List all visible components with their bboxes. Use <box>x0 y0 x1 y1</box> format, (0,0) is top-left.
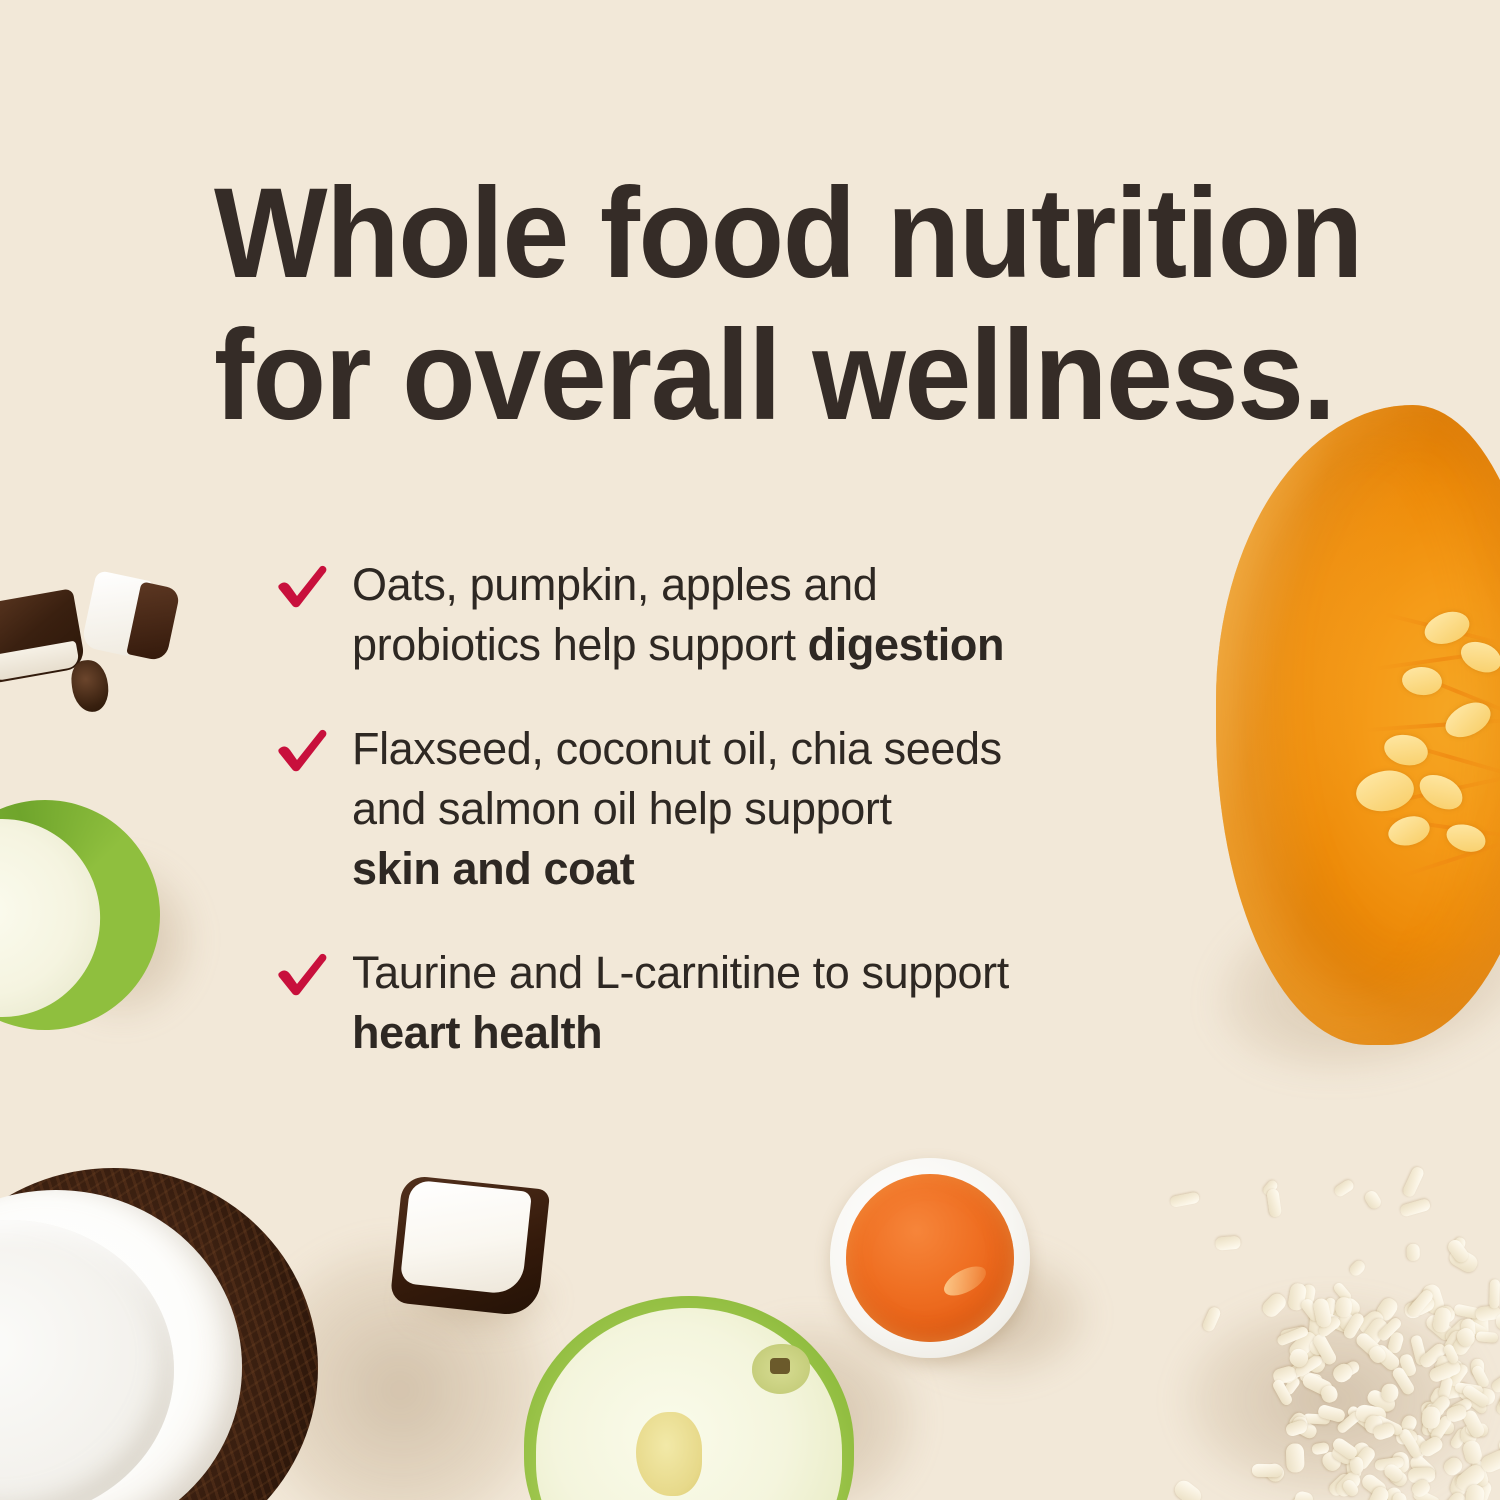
coconut-chunk-2 <box>81 570 181 664</box>
benefit-line: Taurine and L-carnitine to support <box>352 943 1236 1003</box>
oat-flake <box>1293 1490 1314 1500</box>
benefit-emphasis: digestion <box>808 619 1004 670</box>
oat-flake <box>1421 1406 1441 1430</box>
benefit-emphasis: heart health <box>352 1007 602 1058</box>
headline-line-2: for overall wellness. <box>214 305 1267 447</box>
oat-flake <box>1401 1165 1425 1198</box>
coconut-half-image <box>0 1168 348 1500</box>
headline-line-1: Whole food nutrition <box>214 163 1267 305</box>
rolled-oats-image <box>1140 1140 1500 1500</box>
oat-flake <box>1259 1290 1288 1319</box>
coconut-flesh <box>400 1179 532 1295</box>
oat-flake <box>1200 1306 1221 1334</box>
oat-flake <box>1171 1478 1204 1500</box>
check-icon <box>276 561 328 609</box>
coconut-husk <box>69 658 110 713</box>
oat-flake <box>1362 1189 1382 1211</box>
benefit-item: Taurine and L-carnitine to supportheart … <box>276 943 1236 1063</box>
promo-image: Whole food nutrition for overall wellnes… <box>0 0 1500 1500</box>
coconut-chunk-3 <box>69 658 110 713</box>
oil-liquid <box>846 1174 1014 1342</box>
check-icon <box>276 949 328 997</box>
benefit-line: Oats, pumpkin, apples and <box>352 555 1236 615</box>
oat-flake <box>1381 1384 1398 1402</box>
page-title: Whole food nutrition for overall wellnes… <box>214 163 1267 447</box>
benefit-line: skin and coat <box>352 839 1236 899</box>
apple-stem <box>770 1358 790 1374</box>
green-apple-slice-image <box>0 792 168 1037</box>
green-apple-half-image <box>524 1296 854 1500</box>
benefit-line: heart health <box>352 1003 1236 1063</box>
benefit-item: Oats, pumpkin, apples andprobiotics help… <box>276 555 1236 675</box>
salmon-oil-bowl-image <box>830 1158 1030 1358</box>
benefit-line: and salmon oil help support <box>352 779 1236 839</box>
benefit-line: probiotics help support digestion <box>352 615 1236 675</box>
oat-flake <box>1266 1188 1282 1218</box>
oat-flake <box>1335 1297 1352 1317</box>
check-icon <box>276 725 328 773</box>
benefit-item: Flaxseed, coconut oil, chia seedsand sal… <box>276 719 1236 899</box>
oat-flake <box>1399 1198 1431 1218</box>
oat-flake <box>1475 1331 1498 1343</box>
apple-seed-pod <box>636 1412 702 1496</box>
oat-flake <box>1215 1236 1241 1251</box>
oat-flake <box>1251 1463 1281 1477</box>
benefit-line: Flaxseed, coconut oil, chia seeds <box>352 719 1236 779</box>
benefit-emphasis: skin and coat <box>352 843 634 894</box>
oat-flake <box>1169 1191 1200 1208</box>
oat-flake <box>1407 1243 1420 1260</box>
oat-flake <box>1286 1443 1305 1472</box>
oat-flake <box>1347 1258 1367 1278</box>
oat-flake <box>1332 1178 1355 1198</box>
oat-flake <box>1489 1279 1500 1309</box>
benefit-list: Oats, pumpkin, apples andprobiotics help… <box>276 555 1236 1063</box>
